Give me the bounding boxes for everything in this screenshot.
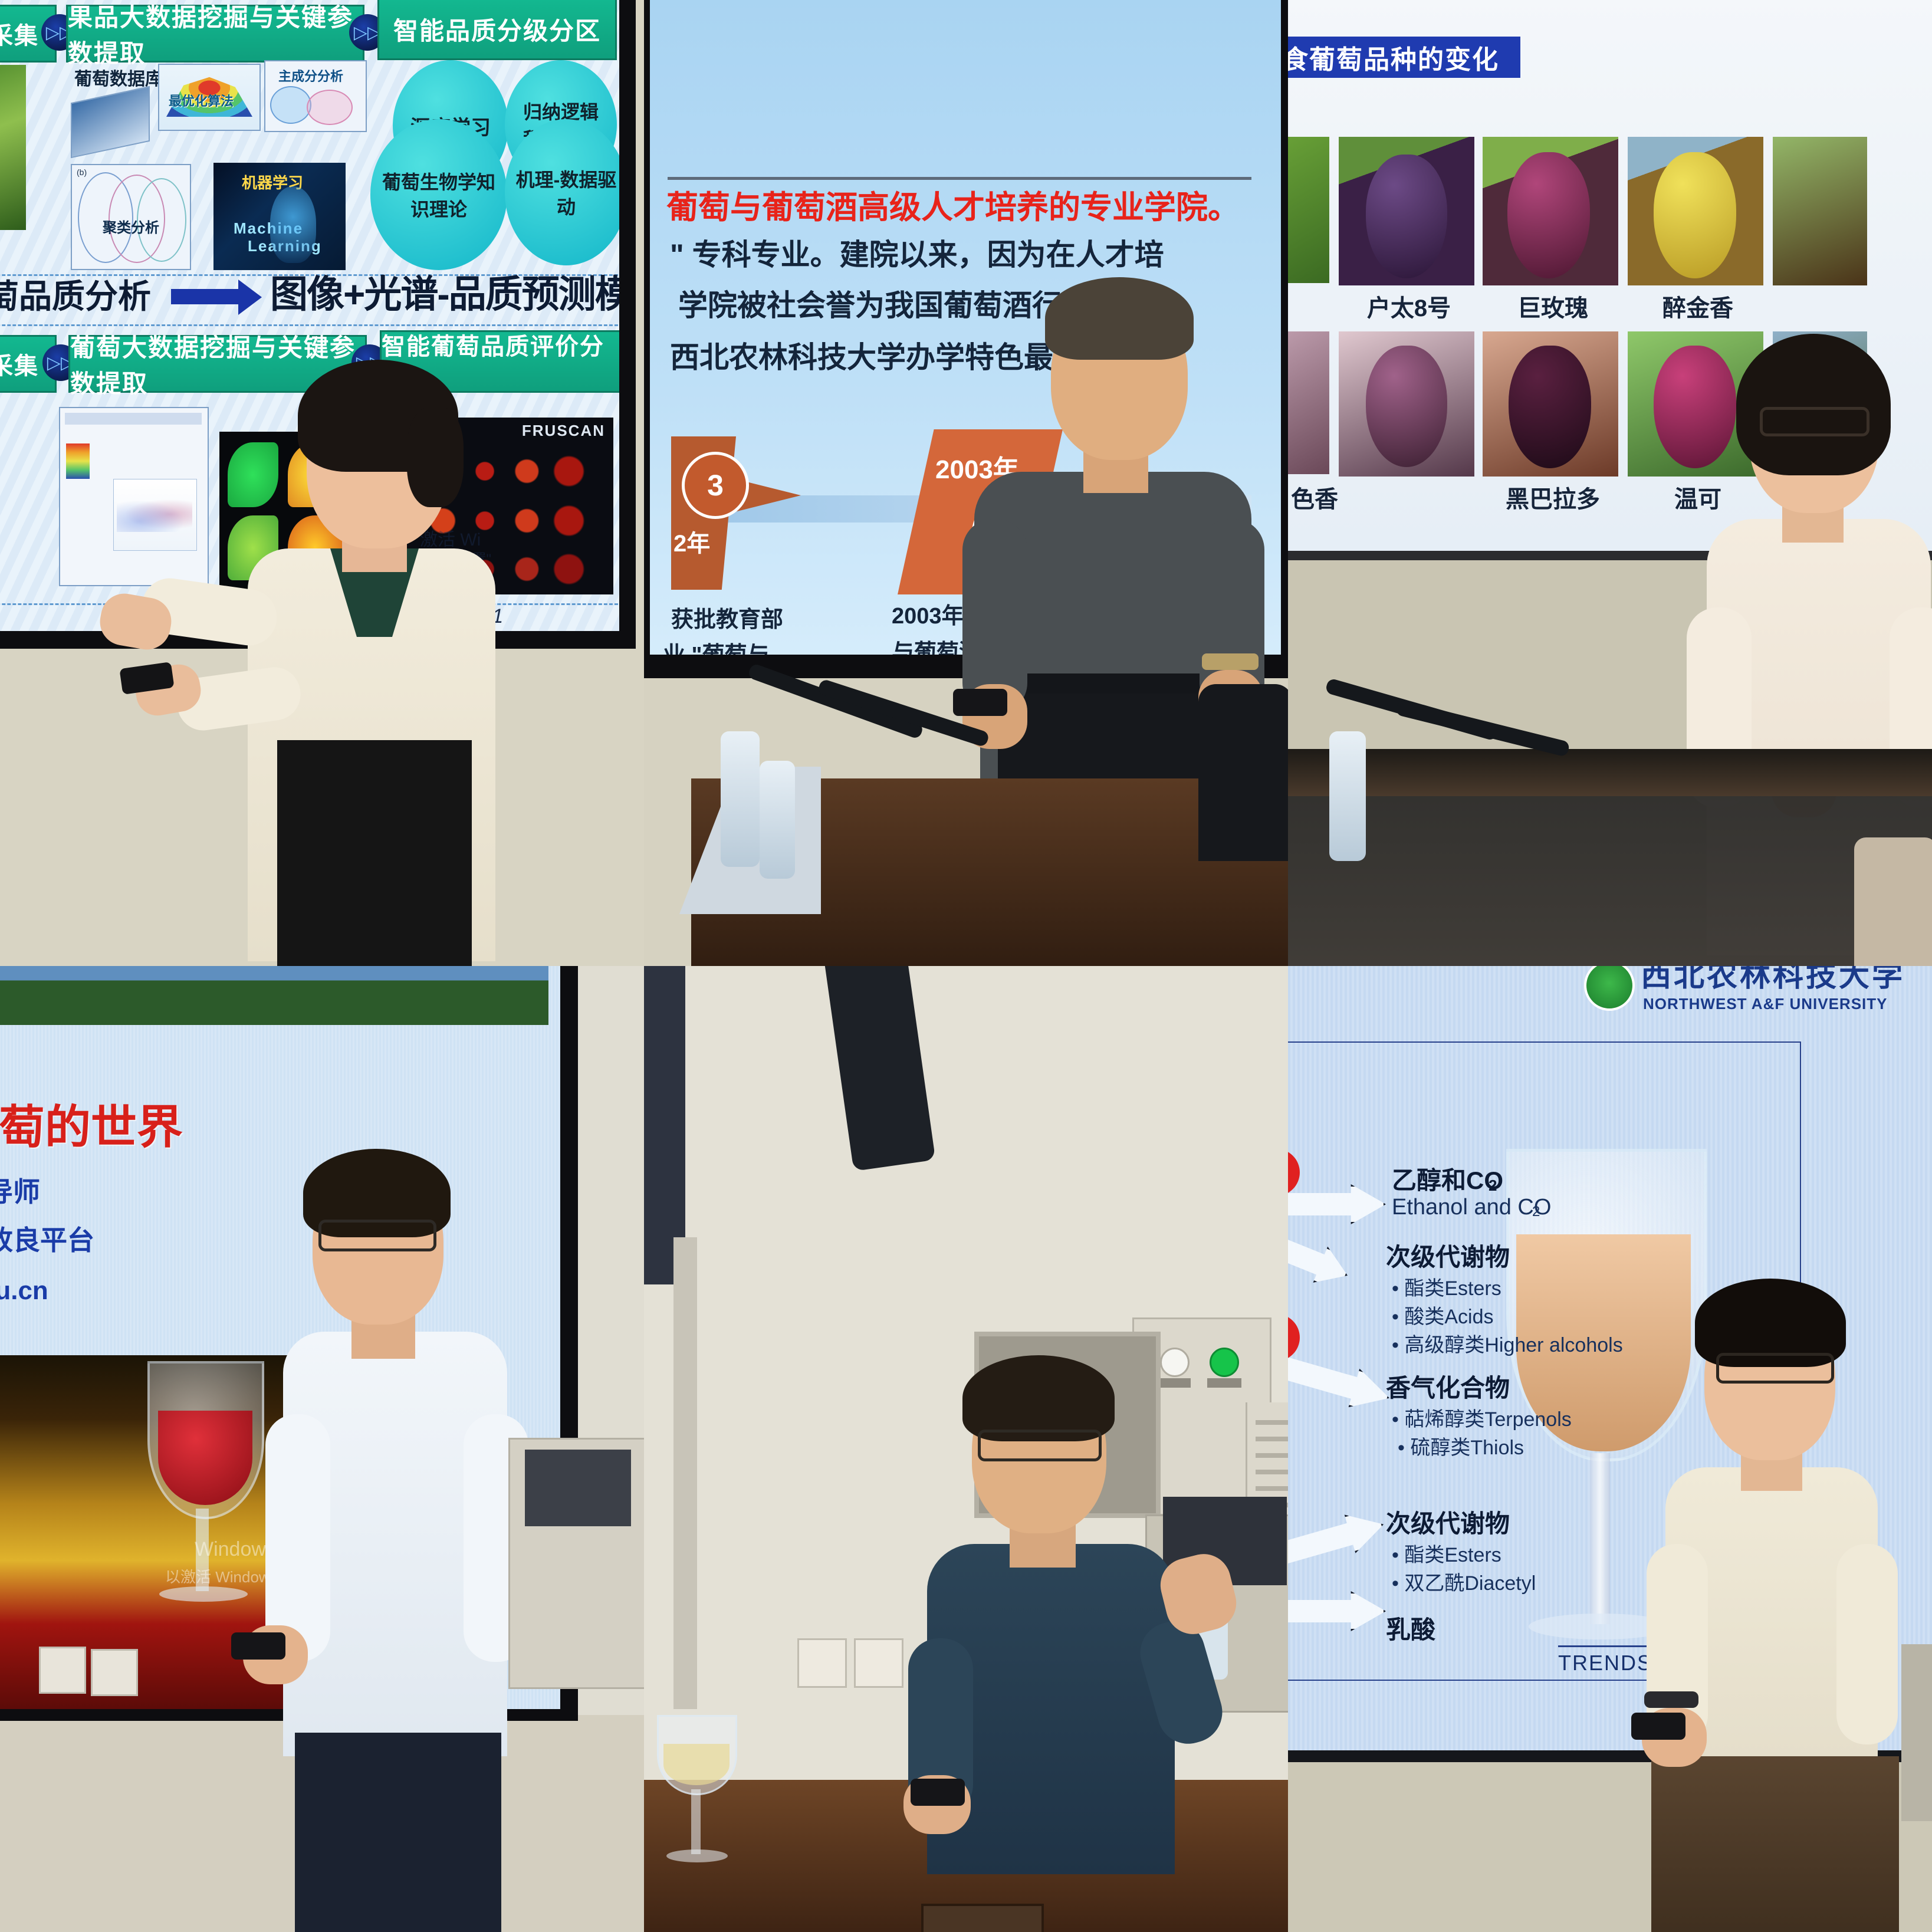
presentation-clicker xyxy=(1631,1713,1685,1740)
presenter-bottom-center xyxy=(644,966,1288,1932)
collage-panel-bottom-left: 葡萄的世界 生导师 质改良平台 edu.cn Windows 以激活 Windo… xyxy=(0,966,644,1932)
smart-watch xyxy=(1644,1691,1698,1708)
presentation-clicker xyxy=(231,1632,285,1660)
presentation-clicker xyxy=(911,1779,965,1806)
equipment-rack xyxy=(1901,1644,1932,1821)
water-bottle xyxy=(760,761,795,879)
glass-conference-table xyxy=(1288,796,1932,966)
eyeglasses xyxy=(978,1430,1102,1461)
wall-socket xyxy=(91,1649,138,1696)
water-bottle xyxy=(1329,731,1366,861)
presenter-bottom-right xyxy=(1288,966,1932,1932)
eyeglasses xyxy=(318,1220,436,1251)
chair xyxy=(1198,684,1288,861)
eyeglasses xyxy=(1716,1353,1834,1384)
wristwatch xyxy=(1202,653,1259,670)
collage-panel-top-center: 葡萄与葡萄酒高级人才培养的专业学院。 " 专科专业。建院以来，因为在人才培 学院… xyxy=(644,0,1288,966)
photo-collage: 据采集 ▷▷ 果品大数据挖掘与关键参数提取 ▷▷ 智能品质分级分区 葡萄数据库 … xyxy=(0,0,1932,1932)
collage-panel-top-right: 鲜食葡萄品种的变化 户太8号 巨玫瑰 醉金香 xyxy=(1288,0,1932,966)
chair xyxy=(1854,837,1932,966)
eyeglasses xyxy=(1760,407,1869,436)
collage-panel-bottom-center xyxy=(644,966,1288,1932)
table-edge xyxy=(1288,749,1932,796)
monitor xyxy=(525,1450,631,1526)
presentation-clicker xyxy=(953,689,1007,716)
water-bottle xyxy=(721,731,760,867)
presenter-top-left xyxy=(0,0,644,966)
wall-socket xyxy=(39,1647,86,1694)
collage-panel-bottom-right: 西北农林科技大学 NORTHWEST A&F UNIVERSITY 乙醇和CO … xyxy=(1288,966,1932,1932)
collage-panel-top-left: 据采集 ▷▷ 果品大数据挖掘与关键参数提取 ▷▷ 智能品质分级分区 葡萄数据库 … xyxy=(0,0,644,966)
